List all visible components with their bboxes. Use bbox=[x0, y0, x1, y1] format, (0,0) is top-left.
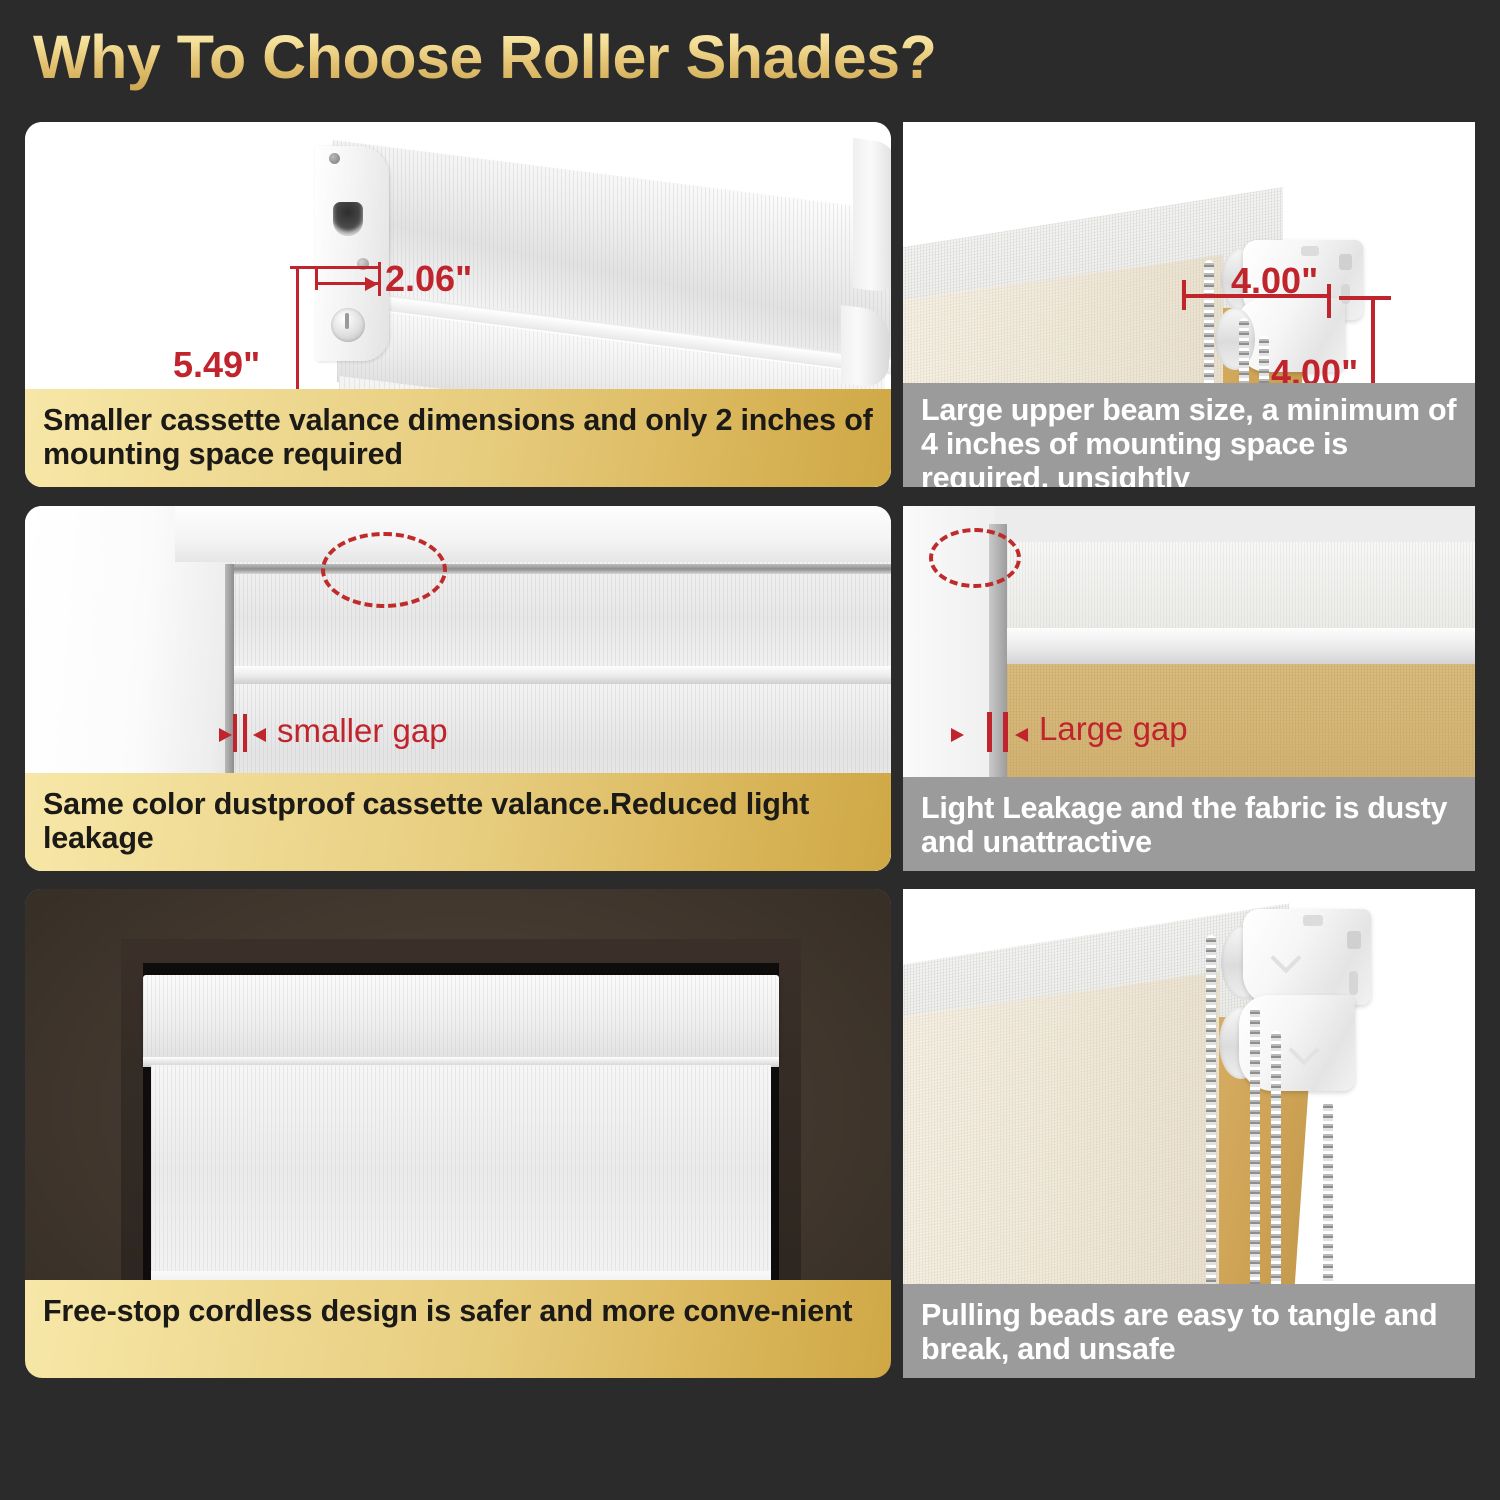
window-frame-top bbox=[175, 506, 891, 562]
width-dim-tick-left bbox=[315, 268, 318, 290]
caption-pulling-beads: Pulling beads are easy to tangle and bre… bbox=[903, 1284, 1475, 1378]
gap-marker-right bbox=[1003, 712, 1008, 752]
dashed-highlight-ellipse-leak bbox=[929, 528, 1021, 588]
caption-dustproof-cassette-valance: Same color dustproof cassette valance.Re… bbox=[25, 773, 891, 871]
panel-pulling-beads: Pulling beads are easy to tangle and bre… bbox=[903, 889, 1475, 1378]
width-dim-label: 2.06" bbox=[385, 258, 472, 300]
valance-bar bbox=[1007, 628, 1475, 664]
valance-shadow-band bbox=[231, 666, 891, 678]
panel-dustproof-cassette-valance: smaller gap Same color dustproof cassett… bbox=[25, 506, 891, 871]
bracket-notch-a bbox=[1339, 254, 1352, 270]
bracket-notch-c bbox=[1303, 915, 1323, 926]
beam-width-tick-left bbox=[1182, 280, 1186, 310]
beam-width-tick-right bbox=[1327, 284, 1331, 318]
panel-large-upper-beam: 4.00" 4.00" Large upper beam size, a min… bbox=[903, 122, 1475, 487]
valance-end-cap bbox=[315, 146, 389, 361]
bracket-notch-a bbox=[1347, 931, 1361, 949]
height-dim-label: 5.49" bbox=[173, 344, 260, 386]
gap-marker-left bbox=[233, 714, 237, 752]
caption-free-stop-cordless: Free-stop cordless design is safer and m… bbox=[25, 1280, 891, 1378]
caption-large-upper-beam: Large upper beam size, a minimum of 4 in… bbox=[903, 383, 1475, 487]
caption-light-leakage-dusty: Light Leakage and the fabric is dusty an… bbox=[903, 777, 1475, 871]
gap-marker-left bbox=[987, 712, 992, 752]
bracket-notch-b bbox=[1341, 284, 1350, 304]
height-dim-tick-top bbox=[290, 266, 380, 269]
page-title: Why To Choose Roller Shades? bbox=[33, 22, 936, 92]
bracket-notch-b bbox=[1349, 971, 1358, 995]
beam-height-tick-top bbox=[1339, 296, 1391, 300]
caption-cassette-valance-dimensions: Smaller cassette valance dimensions and … bbox=[25, 389, 891, 487]
gap-marker-right bbox=[243, 714, 247, 752]
gap-arrow-right bbox=[1015, 728, 1028, 742]
upper-white-fabric bbox=[1007, 542, 1475, 628]
gap-arrow-right bbox=[253, 728, 266, 742]
roller-barrel-lower bbox=[1215, 308, 1255, 370]
beam-width-dim-label: 4.00" bbox=[1231, 260, 1318, 302]
gap-arrow-left bbox=[219, 728, 232, 742]
panel-light-leakage-dusty: Large gap Light Leakage and the fabric i… bbox=[903, 506, 1475, 871]
panel-free-stop-cordless: Free-stop cordless design is safer and m… bbox=[25, 889, 891, 1378]
width-dim-arrow-right bbox=[365, 277, 378, 291]
shade-body bbox=[151, 1065, 771, 1271]
panel-cassette-valance-dimensions: 2.06" 5.49" Smaller cassette valance dim… bbox=[25, 122, 891, 487]
bracket-notch-c bbox=[1301, 246, 1319, 256]
dashed-highlight-ellipse bbox=[321, 532, 447, 608]
cassette-valance-head bbox=[143, 975, 779, 1063]
gap-label-large: Large gap bbox=[1039, 710, 1188, 748]
gap-label-small: smaller gap bbox=[277, 712, 448, 750]
gap-arrow-left bbox=[951, 728, 964, 742]
